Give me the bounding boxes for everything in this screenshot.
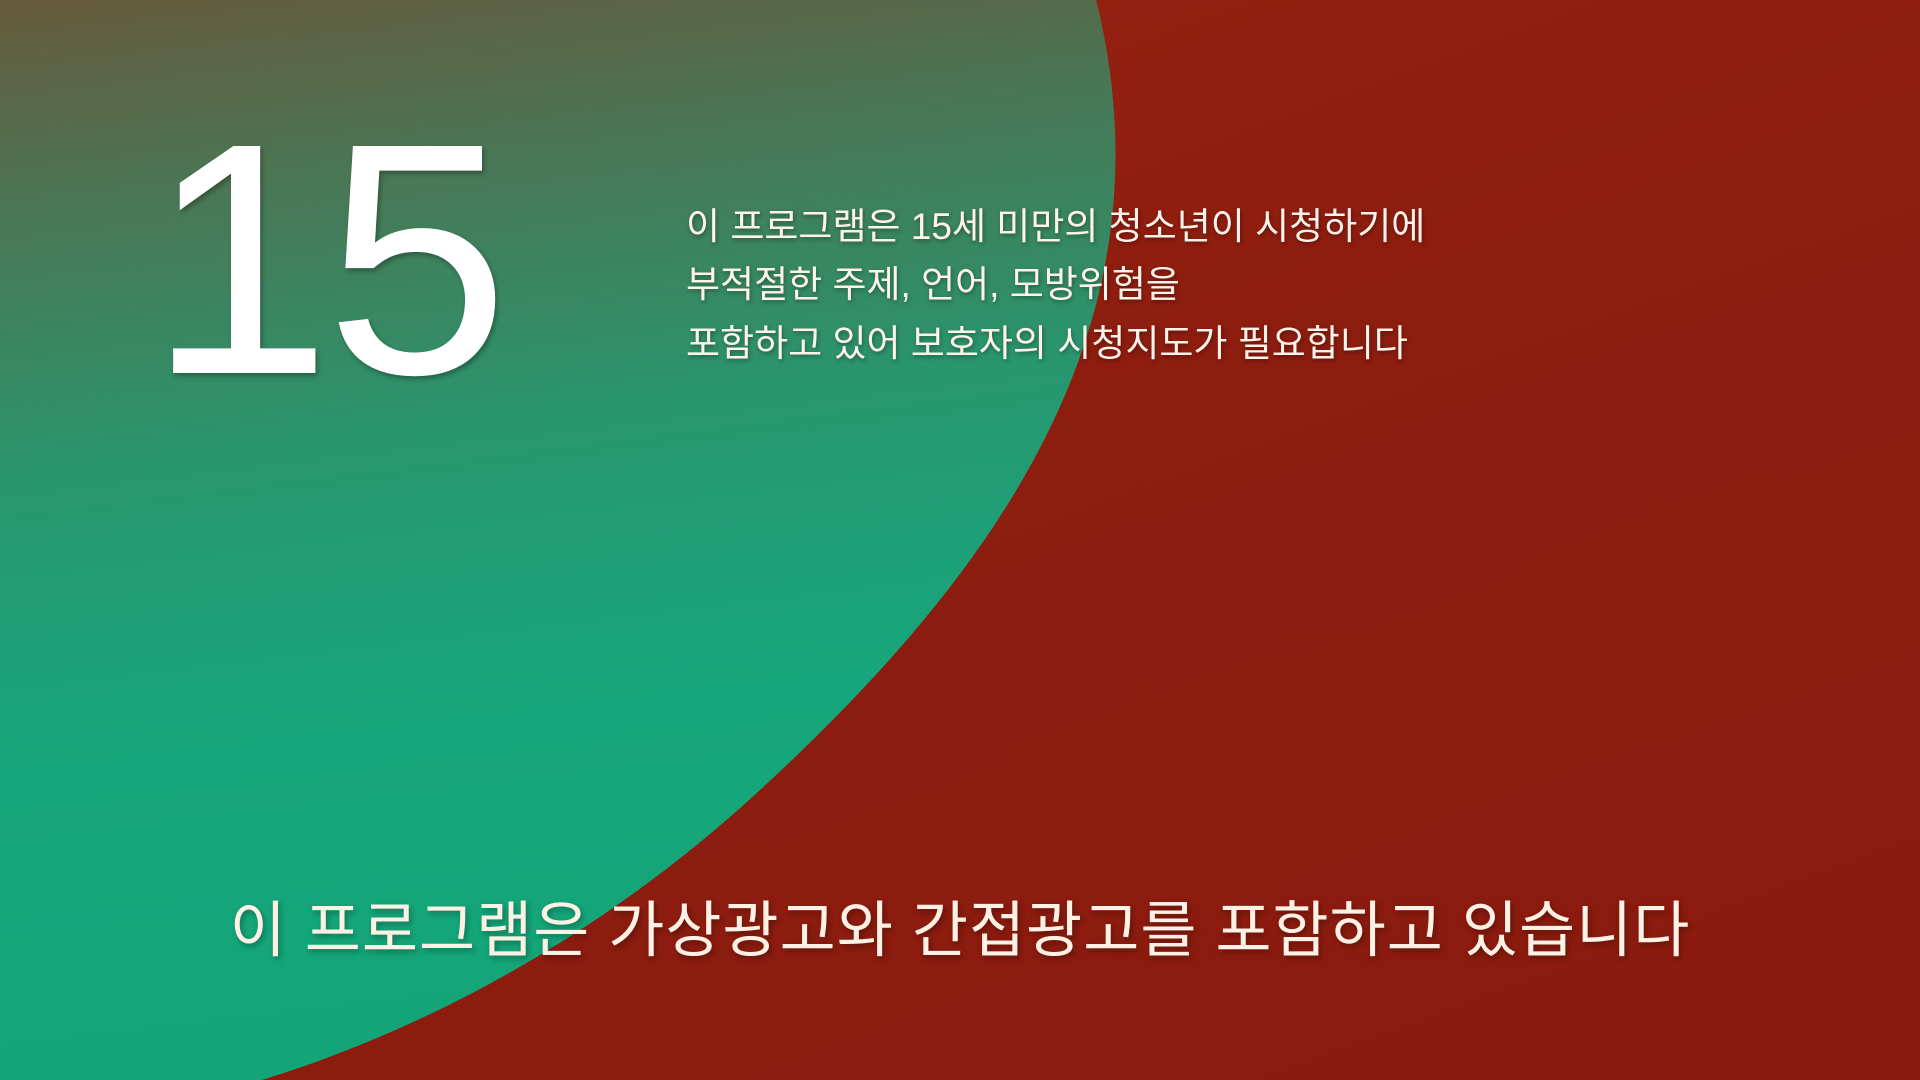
broadcast-rating-overlay: 15 이 프로그램은 15세 미만의 청소년이 시청하기에 부적절한 주제, 언…: [0, 0, 1920, 1080]
advisory-line-2: 부적절한 주제, 언어, 모방위험을: [686, 256, 1746, 314]
advisory-text-block: 이 프로그램은 15세 미만의 청소년이 시청하기에 부적절한 주제, 언어, …: [686, 198, 1746, 373]
rating-number: 15: [148, 94, 503, 424]
advisory-line-1: 이 프로그램은 15세 미만의 청소년이 시청하기에: [686, 198, 1746, 256]
advisory-line-3: 포함하고 있어 보호자의 시청지도가 필요합니다: [686, 315, 1746, 373]
sponsorship-banner-text: 이 프로그램은 가상광고와 간접광고를 포함하고 있습니다: [0, 880, 1920, 969]
